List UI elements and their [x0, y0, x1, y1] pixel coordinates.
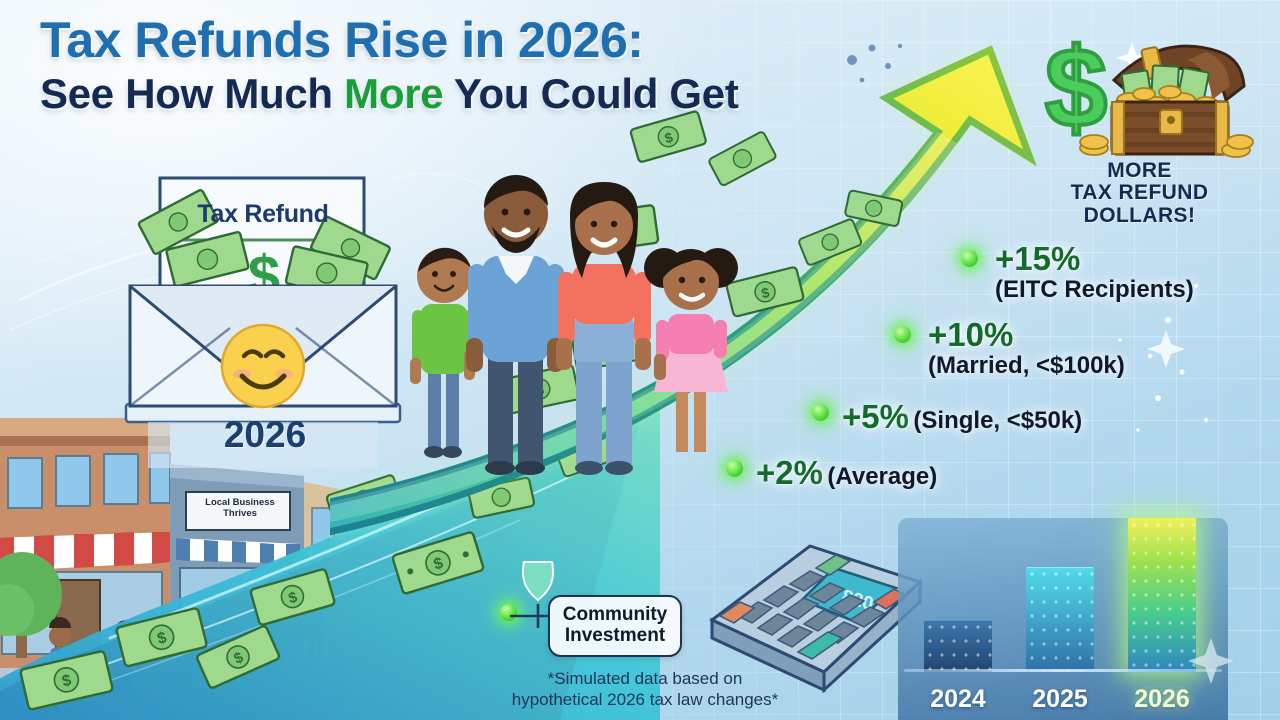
chart-label-2026: 2026: [1119, 685, 1205, 714]
bar-2024: [924, 620, 992, 672]
chart-label-2024: 2024: [915, 685, 1001, 714]
bar-2025: [1026, 567, 1094, 672]
dollar-sign-icon: $: [1045, 25, 1107, 150]
bar-2025-texture: [1026, 567, 1094, 672]
callout-dot-10: [894, 326, 911, 343]
callout-10: +10% (Married, <$100k): [928, 316, 1125, 380]
callout-15-label: (EITC Recipients): [995, 276, 1194, 304]
bar-2024-texture: [924, 620, 992, 672]
community-line-1: Community: [558, 604, 672, 625]
callout-dot-2: [726, 460, 743, 477]
treasure-caption-line-2: TAX REFUND: [1032, 182, 1247, 204]
callout-5: +5% (Single, <$50k): [842, 398, 1082, 436]
footnote-line-2: hypothetical 2026 tax law changes*: [480, 689, 810, 710]
callout-15-percent: +15%: [995, 240, 1080, 277]
callout-2-label: (Average): [827, 463, 937, 490]
bar-group-2025: [1026, 518, 1094, 672]
callout-10-percent: +10%: [928, 316, 1013, 353]
smiley-face-icon: [222, 325, 304, 407]
callout-2-percent: +2%: [756, 454, 823, 491]
callout-15: +15% (EITC Recipients): [995, 240, 1194, 304]
chart-axis: [904, 669, 1222, 672]
callout-5-percent: +5%: [842, 398, 909, 435]
treasure-caption-line-3: DOLLARS!: [1032, 205, 1247, 227]
corner-sparkle-icon: [1186, 636, 1236, 686]
chart-plot-area: [898, 518, 1228, 672]
title-accent-word: More: [344, 70, 443, 117]
check-label: Tax Refund: [174, 200, 352, 229]
family-father: [466, 175, 564, 475]
callout-2: +2% (Average): [756, 454, 937, 492]
chart-label-2025: 2025: [1017, 685, 1103, 714]
callout-10-label: (Married, <$100k): [928, 352, 1125, 380]
title-line-1: Tax Refunds Rise in 2026:: [40, 14, 739, 67]
page-title: Tax Refunds Rise in 2026: See How Much M…: [40, 14, 739, 116]
community-line-2: Investment: [558, 625, 672, 646]
callout-dot-5: [812, 404, 829, 421]
bar-chart: 2024 2025 2026: [898, 518, 1228, 720]
treasure-caption: MORE TAX REFUND DOLLARS!: [1032, 160, 1247, 227]
community-investment-callout: Community Investment: [548, 595, 682, 657]
family-girl: [644, 248, 738, 452]
bar-2024-top: [924, 620, 992, 621]
footnote-line-1: *Simulated data based on: [480, 668, 810, 689]
title-line-2-after: You Could Get: [443, 70, 738, 117]
bar-group-2024: [924, 518, 992, 672]
family-mother: [556, 182, 651, 475]
treasure-caption-line-1: MORE: [1032, 160, 1247, 182]
callout-dot-15: [961, 250, 978, 267]
pedestal-year-label: 2026: [185, 414, 345, 456]
footnote: *Simulated data based on hypothetical 20…: [480, 668, 810, 711]
infographic-canvas: Tax Refunds Rise in 2026: See How Much M…: [0, 0, 1280, 720]
family-illustration: [392, 152, 752, 482]
callout-5-label: (Single, <$50k): [913, 407, 1082, 434]
title-line-2-before: See How Much: [40, 70, 344, 117]
title-line-2: See How Much More You Could Get: [40, 71, 739, 116]
